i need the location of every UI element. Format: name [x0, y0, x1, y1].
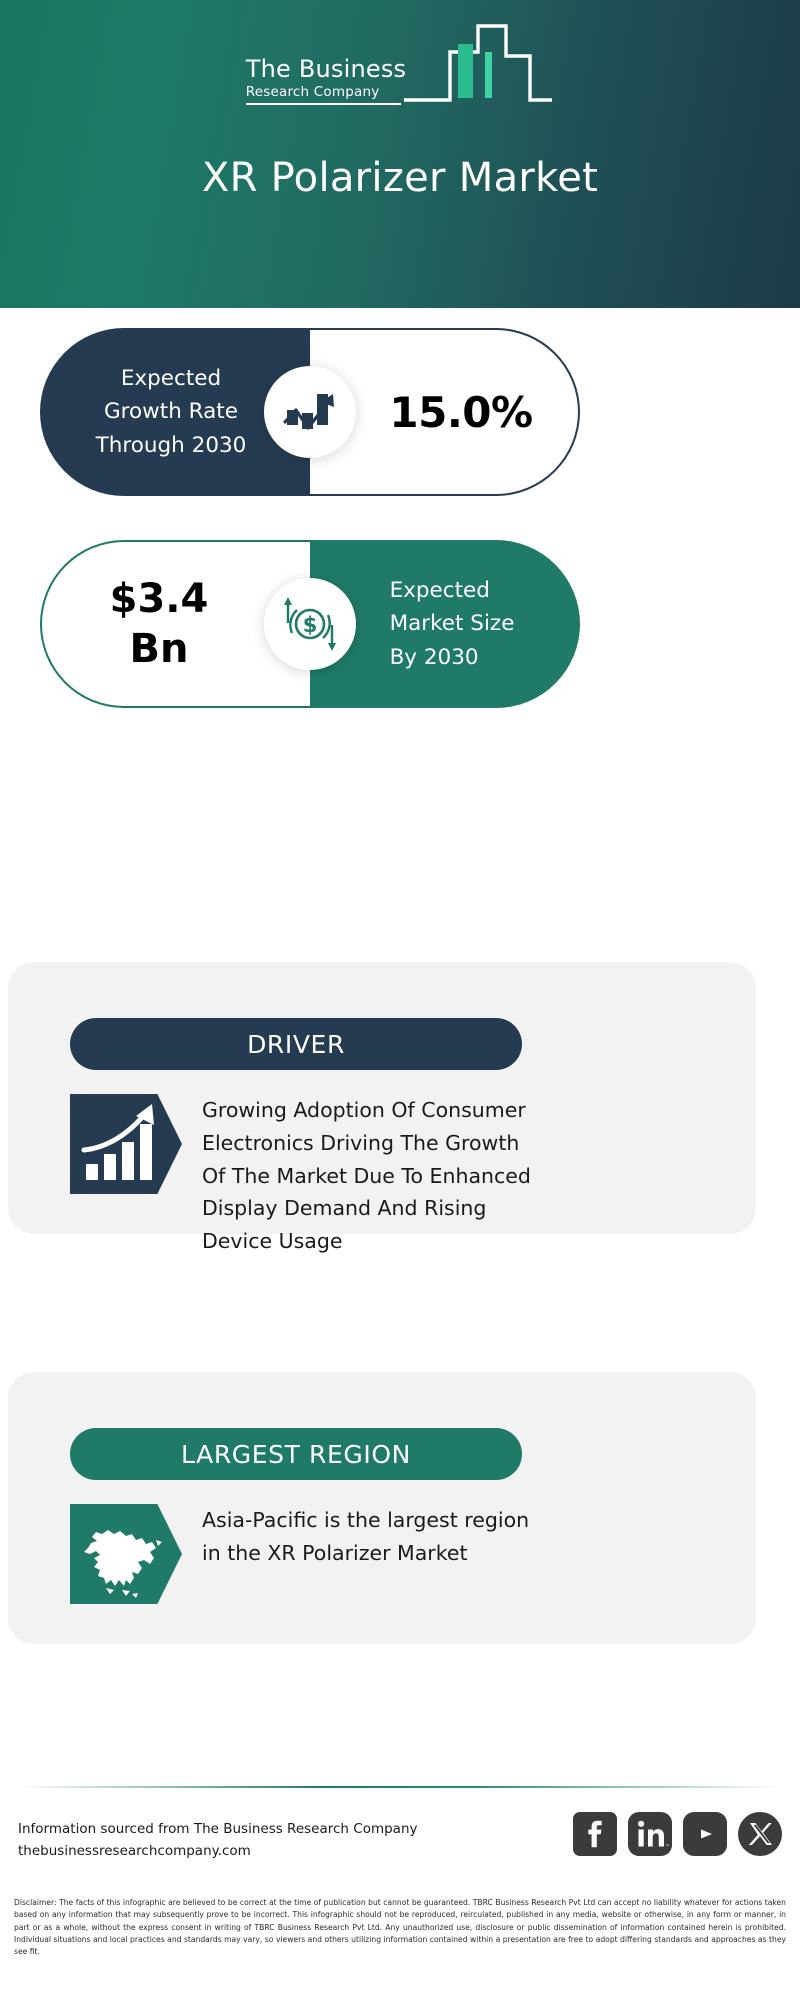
footer-website-link[interactable]: thebusinessresearchcompany.com [18, 1841, 418, 1863]
stat-label-line-2: Market Size [390, 611, 515, 636]
driver-body: Growing Adoption Of Consumer Electronics… [70, 1094, 547, 1258]
bar-chart-logo-mark [402, 22, 554, 109]
dollar-cycle-icon: $ [264, 578, 356, 670]
logo-line-2: Research Company [246, 84, 380, 100]
footer-divider [18, 1786, 782, 1788]
stat-card-label: Expected Market Size By 2030 [376, 574, 515, 674]
youtube-icon[interactable] [683, 1812, 727, 1856]
growth-rate-value: 15.0% [355, 388, 532, 437]
market-size-line-2: Bn [130, 626, 189, 672]
stat-card-growth-rate: Expected Growth Rate Through 2030 15.0% [40, 328, 580, 496]
logo-line-1: The Business [246, 57, 407, 82]
svg-text:™: ™ [665, 1844, 670, 1850]
driver-text: Growing Adoption Of Consumer Electronics… [202, 1094, 547, 1258]
social-links: ™ [573, 1812, 782, 1856]
largest-region-panel: LARGEST REGION Asia-Pacific is the large… [8, 1372, 756, 1644]
linkedin-icon[interactable]: ™ [628, 1812, 672, 1856]
largest-region-body: Asia-Pacific is the largest region in th… [70, 1504, 547, 1604]
infographic-page: The Business Research Company XR Polariz… [0, 0, 800, 2000]
stat-label-line-3: By 2030 [390, 645, 479, 670]
footer-source-line-1: Information sourced from The Business Re… [18, 1819, 418, 1841]
stat-label-line-2: Growth Rate [104, 399, 238, 424]
logo-text: The Business Research Company [246, 57, 407, 111]
company-logo: The Business Research Company [0, 22, 800, 111]
footer-source: Information sourced from The Business Re… [18, 1819, 418, 1862]
logo-underline [246, 103, 401, 105]
asia-map-icon [70, 1504, 182, 1604]
stat-card-market-size: $3.4 Bn Expected Market Size By 2030 $ [40, 540, 580, 708]
stat-label-line-1: Expected [390, 578, 490, 603]
stat-label-line-1: Expected [121, 366, 221, 391]
disclaimer-text: Disclaimer: The facts of this infographi… [14, 1897, 786, 1958]
growth-chart-arrow-icon [264, 366, 356, 458]
market-size-value: $3.4 Bn [110, 574, 243, 674]
svg-text:$: $ [303, 613, 318, 637]
rising-bar-chart-icon [70, 1094, 182, 1194]
market-size-line-1: $3.4 [110, 576, 209, 622]
stat-card-label: Expected Growth Rate Through 2030 [96, 362, 255, 462]
stat-label-line-3: Through 2030 [96, 433, 247, 458]
largest-region-pill: LARGEST REGION [70, 1428, 522, 1480]
driver-panel: DRIVER Growing Adoption Of Consumer Elec… [8, 962, 756, 1234]
page-title: XR Polarizer Market [0, 155, 800, 201]
header-banner: The Business Research Company XR Polariz… [0, 0, 800, 308]
x-twitter-icon[interactable] [738, 1812, 782, 1856]
largest-region-text: Asia-Pacific is the largest region in th… [202, 1504, 547, 1604]
driver-pill: DRIVER [70, 1018, 522, 1070]
facebook-icon[interactable] [573, 1812, 617, 1856]
